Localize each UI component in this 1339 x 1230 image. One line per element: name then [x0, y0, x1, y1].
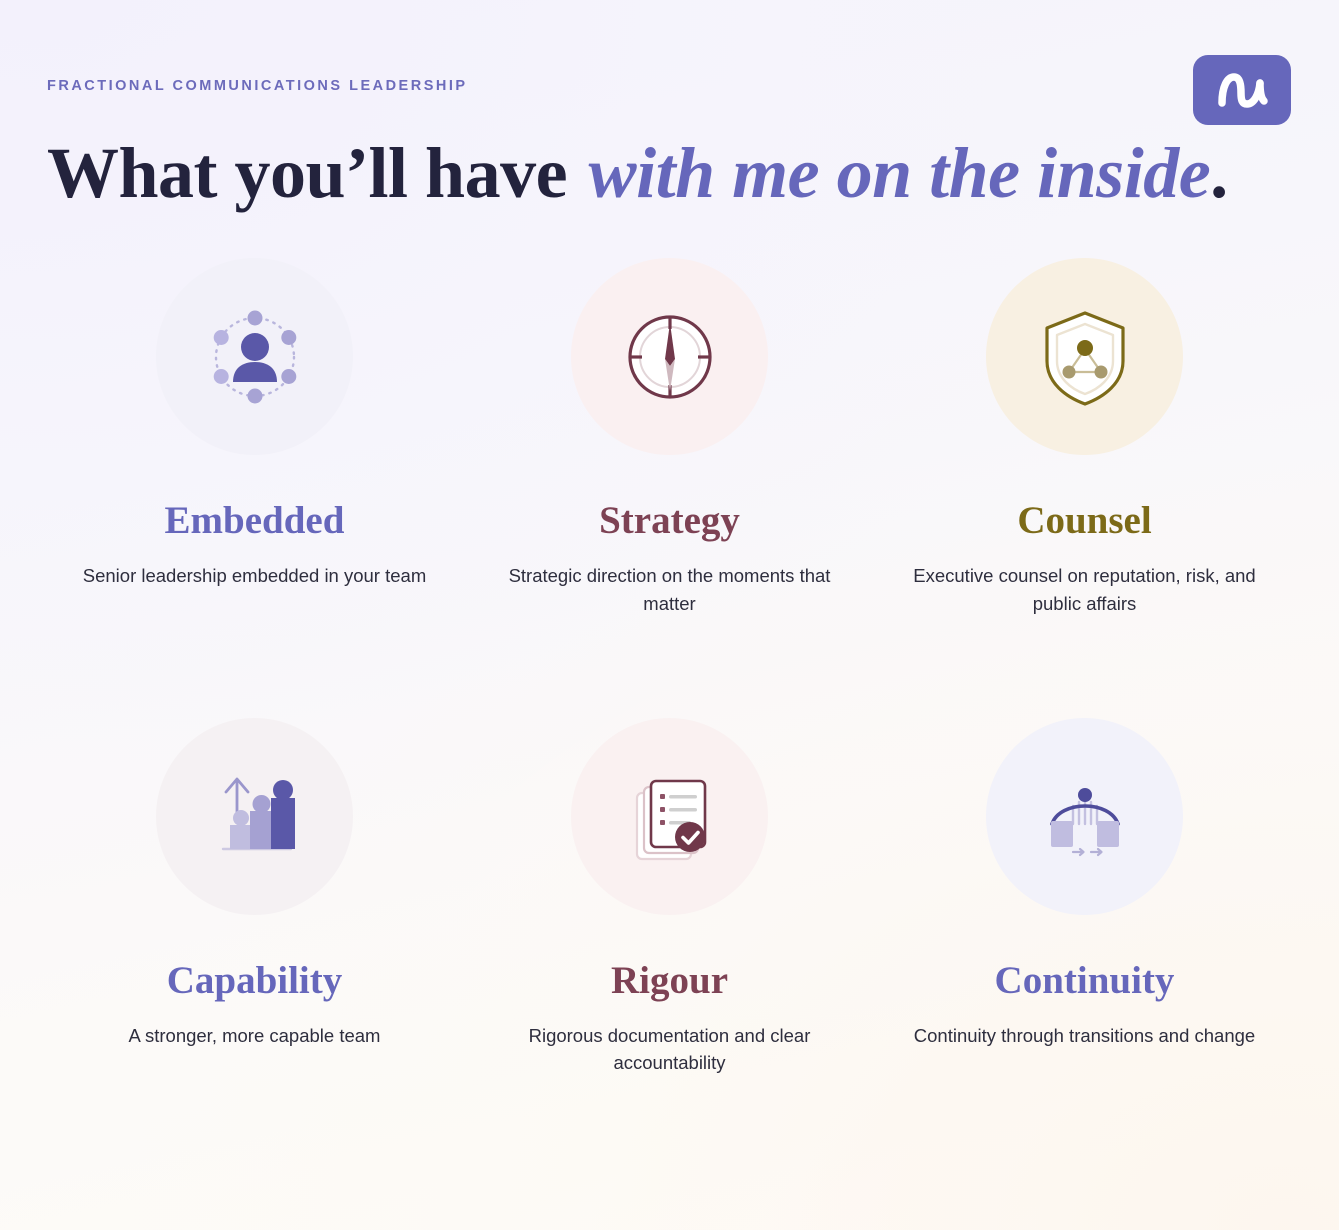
growth-bar-chart-icon	[195, 756, 315, 876]
feature-card-strategy: Strategy Strategic direction on the mome…	[462, 258, 877, 618]
rigour-icon-circle	[571, 718, 768, 915]
card-title: Counsel	[1017, 501, 1151, 540]
card-description: Executive counsel on reputation, risk, a…	[912, 562, 1257, 618]
feature-card-counsel: Counsel Executive counsel on reputation,…	[877, 258, 1292, 618]
documents-checklist-icon	[610, 756, 730, 876]
card-description: Rigorous documentation and clear account…	[497, 1022, 842, 1078]
feature-card-continuity: Continuity Continuity through transition…	[877, 718, 1292, 1078]
compass-icon	[610, 297, 730, 417]
bridge-continuity-icon	[1025, 756, 1145, 876]
slide-canvas: Fractional Communications Leadership Wha…	[0, 0, 1339, 1230]
card-description: Senior leadership embedded in your team	[83, 562, 427, 590]
page-title: What you’ll have with me on the inside.	[47, 134, 1228, 213]
feature-card-embedded: Embedded Senior leadership embedded in y…	[47, 258, 462, 618]
headline-lead: What you’ll have	[47, 133, 585, 213]
feature-grid: Embedded Senior leadership embedded in y…	[47, 258, 1292, 1077]
strategy-icon-circle	[571, 258, 768, 455]
card-title: Capability	[167, 961, 343, 1000]
headline-accent: with me on the inside	[585, 133, 1211, 213]
logo-m-icon	[1214, 67, 1270, 113]
eyebrow-label: Fractional Communications Leadership	[47, 78, 468, 94]
card-title: Rigour	[611, 961, 728, 1000]
counsel-icon-circle	[986, 258, 1183, 455]
headline-period: .	[1210, 133, 1228, 213]
brand-logo[interactable]	[1193, 55, 1291, 125]
card-title: Strategy	[599, 501, 740, 540]
card-description: Strategic direction on the moments that …	[497, 562, 842, 618]
embedded-icon-circle	[156, 258, 353, 455]
card-description: Continuity through transitions and chang…	[914, 1022, 1255, 1050]
card-title: Embedded	[165, 501, 345, 540]
embedded-person-network-icon	[195, 297, 315, 417]
shield-network-icon	[1025, 297, 1145, 417]
capability-icon-circle	[156, 718, 353, 915]
feature-card-capability: Capability A stronger, more capable team	[47, 718, 462, 1078]
card-title: Continuity	[995, 961, 1175, 1000]
continuity-icon-circle	[986, 718, 1183, 915]
feature-card-rigour: Rigour Rigorous documentation and clear …	[462, 718, 877, 1078]
card-description: A stronger, more capable team	[129, 1022, 381, 1050]
